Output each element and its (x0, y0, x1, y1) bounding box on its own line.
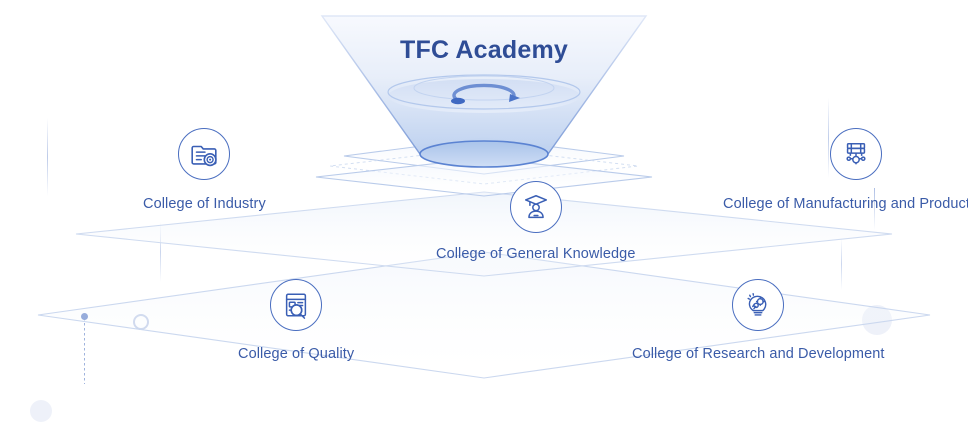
page-title: TFC Academy (308, 36, 660, 65)
vertical-line-left (47, 118, 48, 196)
blob-bottom-left (30, 400, 52, 422)
node-label: College of Research and Development (632, 346, 885, 362)
node-college-of-general-knowledge[interactable]: College of General Knowledge (436, 181, 635, 262)
server-network-icon-circle (830, 128, 882, 180)
funnel-graphic: TFC Academy (308, 4, 660, 172)
node-label: College of General Knowledge (436, 246, 635, 262)
dotted-line-with-dot (84, 318, 85, 384)
node-label: College of Industry (143, 196, 266, 212)
lightbulb-gears-icon (743, 290, 773, 320)
document-seal-icon-circle (178, 128, 230, 180)
vertical-line-mid-left (160, 222, 161, 282)
document-magnifier-icon-circle (270, 279, 322, 331)
node-label: College of Manufacturing and Production (723, 196, 968, 212)
document-seal-icon (189, 139, 219, 169)
node-college-of-quality[interactable]: College of Quality (238, 279, 354, 362)
node-college-of-industry[interactable]: College of Industry (143, 128, 266, 212)
node-college-of-research-and-development[interactable]: College of Research and Development (632, 279, 885, 362)
lightbulb-gears-icon-circle (732, 279, 784, 331)
dotted-line-dot-icon (81, 313, 88, 320)
server-network-icon (841, 139, 871, 169)
small-ring-circle (133, 314, 149, 330)
diagram-canvas: TFC Academy College of Industry (0, 0, 968, 430)
document-magnifier-icon (281, 290, 311, 320)
graduate-cap-person-icon-circle (510, 181, 562, 233)
node-label: College of Quality (238, 346, 354, 362)
graduate-cap-person-icon (521, 192, 551, 222)
node-college-of-manufacturing-and-production[interactable]: College of Manufacturing and Production (723, 128, 968, 212)
